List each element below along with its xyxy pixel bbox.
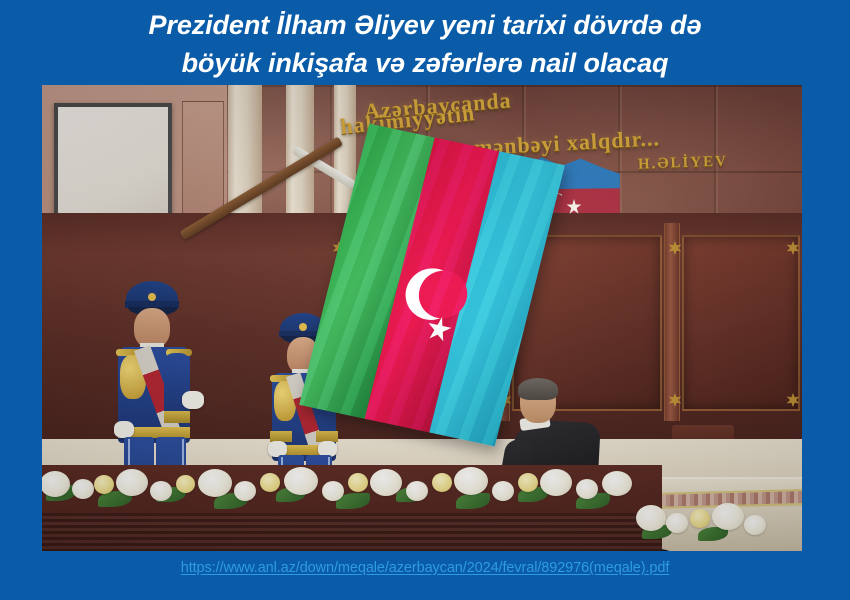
cream-rose — [690, 509, 710, 528]
white-orchid — [454, 467, 488, 495]
white-orchid — [602, 471, 632, 496]
cream-rose — [348, 473, 368, 492]
flower-arrangement — [42, 451, 666, 521]
guard-cap-badge-icon — [148, 293, 156, 301]
guard-glove — [182, 391, 204, 409]
white-rose — [150, 481, 172, 501]
white-rose — [576, 479, 598, 499]
guard-head — [134, 308, 170, 348]
president-hair — [518, 378, 558, 400]
title-line-1: Prezident İlham Əliyev yeni tarixi dövrd… — [0, 6, 850, 44]
side-flower-arrangement — [632, 491, 782, 545]
guard-cap-badge-icon — [299, 323, 307, 331]
wall-panel — [682, 235, 800, 411]
white-orchid — [636, 505, 666, 531]
white-orchid — [198, 469, 232, 497]
title-line-2: böyük inkişafa və zəfərlərə nail olacaq — [0, 44, 850, 82]
white-orchid — [284, 467, 318, 495]
wall-inscription-attribution: H.ƏLİYEV — [638, 153, 729, 173]
white-rose — [744, 515, 766, 535]
cream-rose — [432, 473, 452, 492]
guard-glove — [114, 421, 134, 438]
white-rose — [666, 513, 688, 533]
cream-rose — [260, 473, 280, 492]
white-orchid — [540, 469, 572, 496]
white-orchid — [712, 503, 744, 530]
cream-rose — [94, 475, 114, 494]
foliage-leaf — [456, 493, 490, 509]
page-title: Prezident İlham Əliyev yeni tarixi dövrd… — [0, 6, 850, 82]
white-rose — [406, 481, 428, 501]
white-orchid — [116, 469, 148, 496]
slide-canvas: Prezident İlham Əliyev yeni tarixi dövrd… — [0, 0, 850, 600]
white-rose — [72, 479, 94, 499]
guard-cuff — [164, 411, 190, 423]
ceremony-photograph: Azərbaycanda hakimiyyətin mənbəyi xalqdı… — [42, 85, 802, 551]
white-rose — [322, 481, 344, 501]
cream-rose — [518, 473, 538, 492]
source-url-link[interactable]: https://www.anl.az/down/meqale/azerbayca… — [0, 560, 850, 576]
white-orchid — [370, 469, 402, 496]
white-rose — [492, 481, 514, 501]
white-rose — [234, 481, 256, 501]
cream-rose — [176, 475, 195, 493]
